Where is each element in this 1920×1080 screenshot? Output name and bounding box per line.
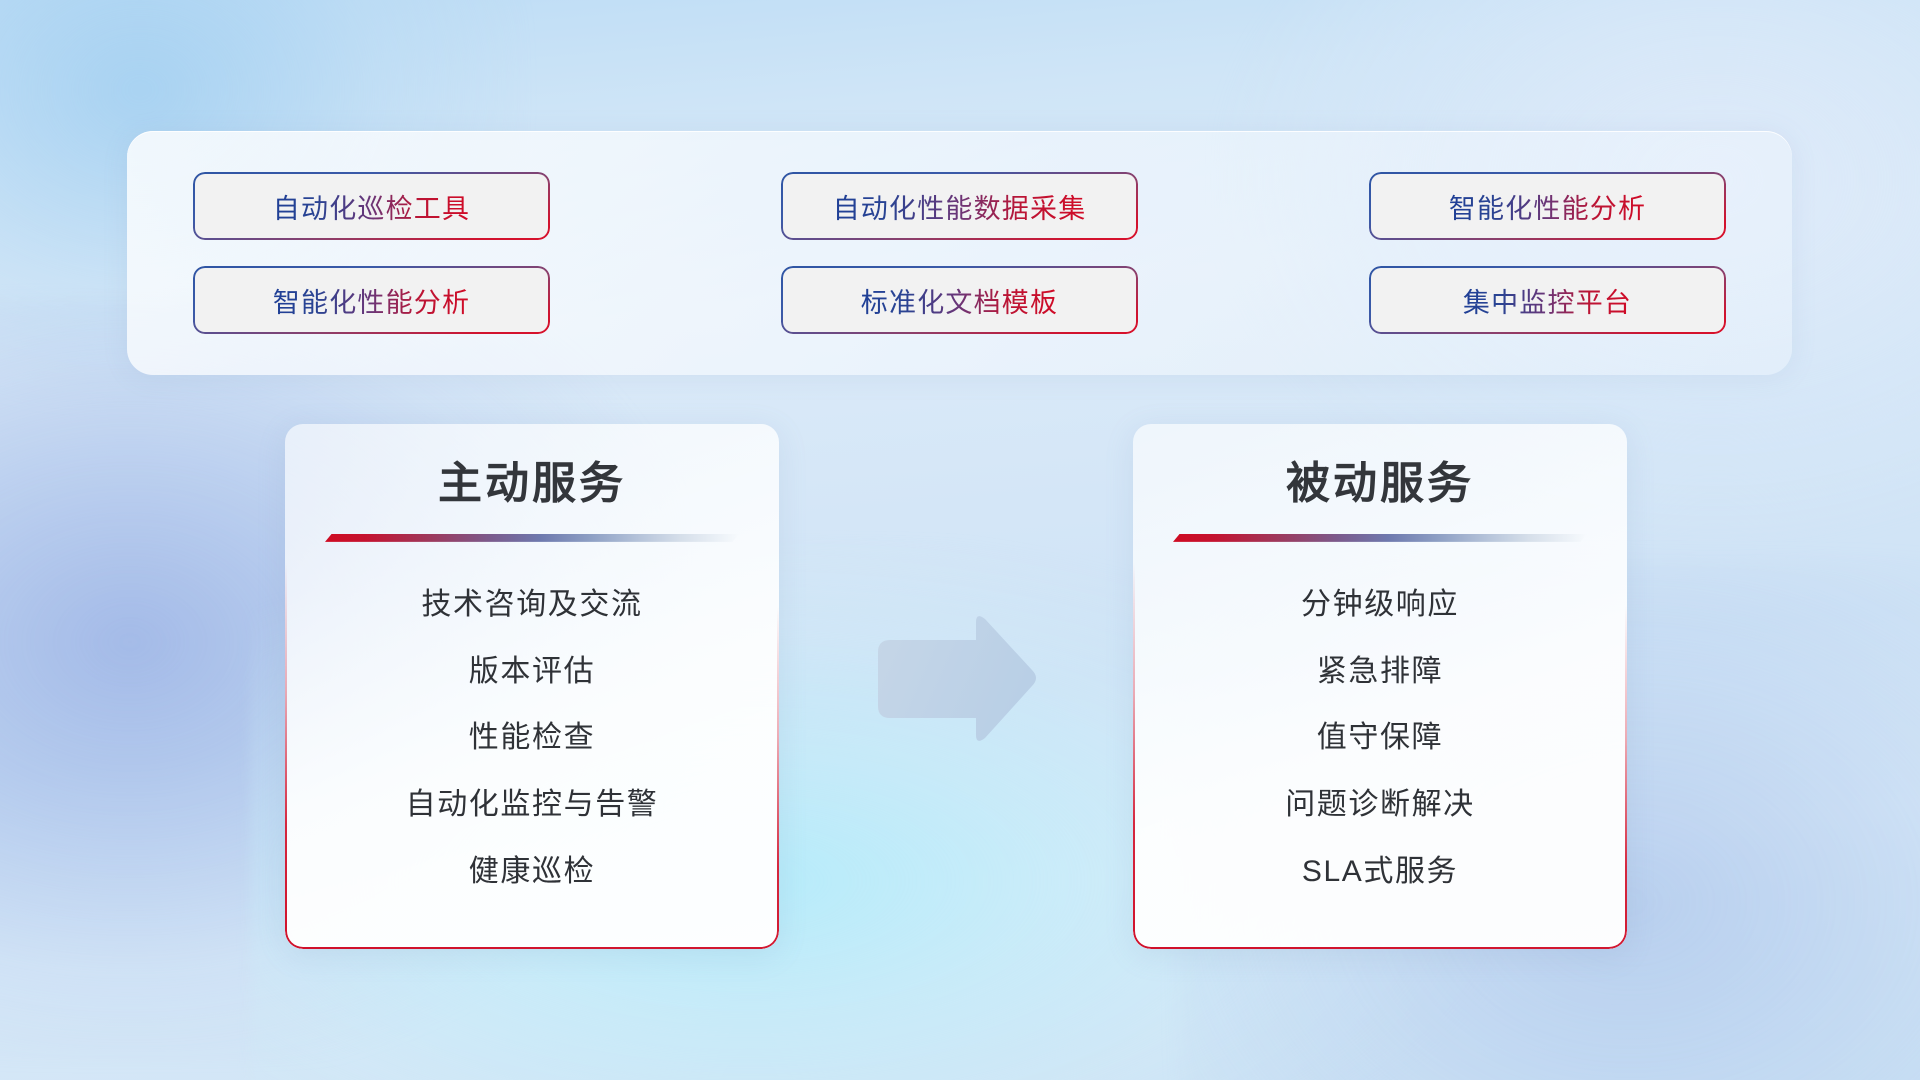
list-item: 版本评估 [469, 646, 595, 690]
capability-row-1: 自动化巡检工具 自动化性能数据采集 智能化性能分析 [193, 172, 1726, 240]
capability-chip-label: 集中监控平台 [1463, 281, 1632, 320]
capability-chip-label: 智能化性能分析 [1449, 187, 1646, 226]
capability-chip-intelligent-performance-analysis-a[interactable]: 智能化性能分析 [1369, 172, 1726, 240]
service-card-proactive: 主动服务 技术咨询及交流 版本评估 性能检查 自动化监控与告警 健康巡检 [285, 424, 779, 949]
capability-chip-label: 智能化性能分析 [273, 281, 470, 320]
capability-chip-automated-performance-data-collection[interactable]: 自动化性能数据采集 [781, 172, 1138, 240]
list-item: 性能检查 [469, 712, 595, 756]
capability-chip-centralized-monitoring-platform[interactable]: 集中监控平台 [1369, 266, 1726, 334]
service-card-divider [1173, 534, 1587, 542]
service-card-list: 技术咨询及交流 版本评估 性能检查 自动化监控与告警 健康巡检 [325, 542, 739, 919]
capability-chip-automated-inspection-tool[interactable]: 自动化巡检工具 [193, 172, 550, 240]
capability-chip-label: 自动化巡检工具 [273, 187, 470, 226]
service-card-title: 主动服务 [325, 458, 739, 510]
list-item: 问题诊断解决 [1285, 779, 1475, 823]
service-card-title: 被动服务 [1173, 458, 1587, 510]
capability-panel: 自动化巡检工具 自动化性能数据采集 智能化性能分析 智能化性能分析 标准化文档模… [127, 131, 1792, 375]
service-card-reactive: 被动服务 分钟级响应 紧急排障 值守保障 问题诊断解决 SLA式服务 [1133, 424, 1627, 949]
capability-chip-intelligent-performance-analysis-b[interactable]: 智能化性能分析 [193, 266, 550, 334]
list-item: 值守保障 [1317, 712, 1443, 756]
service-card-inner: 被动服务 分钟级响应 紧急排障 值守保障 问题诊断解决 SLA式服务 [1133, 424, 1627, 949]
list-item: SLA式服务 [1302, 846, 1458, 890]
capability-chip-standardized-document-template[interactable]: 标准化文档模板 [781, 266, 1138, 334]
capability-chip-label: 自动化性能数据采集 [833, 187, 1087, 226]
list-item: 紧急排障 [1317, 646, 1443, 690]
list-item: 分钟级响应 [1301, 579, 1459, 623]
list-item: 技术咨询及交流 [421, 579, 642, 623]
diagram-stage: 自动化巡检工具 自动化性能数据采集 智能化性能分析 智能化性能分析 标准化文档模… [0, 0, 1920, 1080]
service-card-list: 分钟级响应 紧急排障 值守保障 问题诊断解决 SLA式服务 [1173, 542, 1587, 919]
service-card-divider [325, 534, 739, 542]
capability-chip-label: 标准化文档模板 [861, 281, 1058, 320]
capability-row-2: 智能化性能分析 标准化文档模板 集中监控平台 [193, 266, 1726, 334]
right-arrow-icon [872, 614, 1040, 744]
list-item: 自动化监控与告警 [406, 779, 659, 823]
service-card-inner: 主动服务 技术咨询及交流 版本评估 性能检查 自动化监控与告警 健康巡检 [285, 424, 779, 949]
list-item: 健康巡检 [469, 846, 595, 890]
